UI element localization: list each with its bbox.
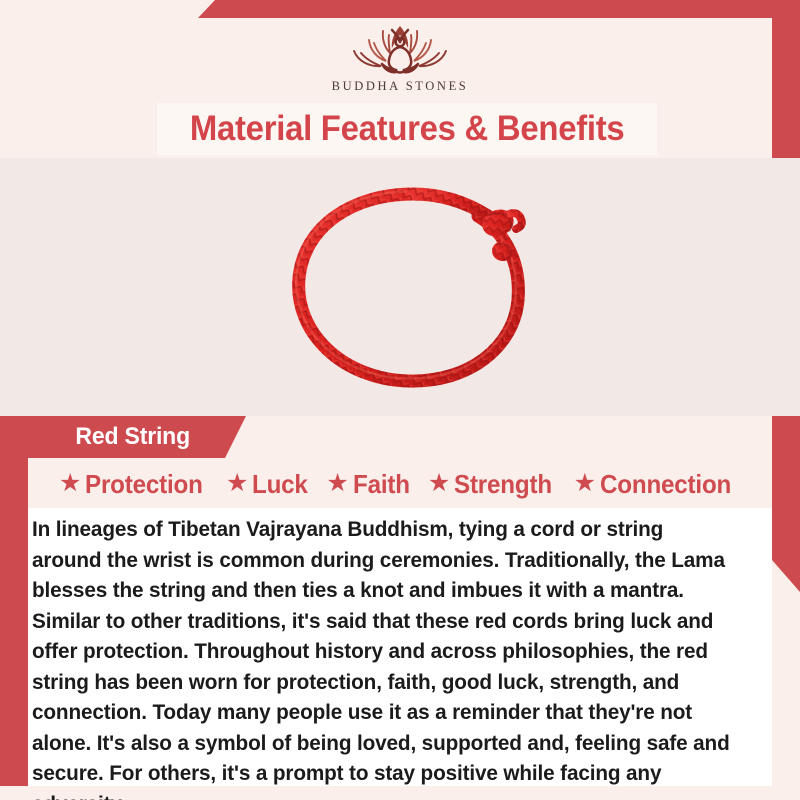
feature-item-connection: ★ Connection	[574, 469, 741, 500]
feature-label: Faith	[353, 469, 410, 500]
star-icon: ★	[428, 471, 450, 496]
product-photo	[0, 158, 800, 416]
red-string-bracelet-image	[256, 158, 566, 416]
star-icon: ★	[574, 471, 596, 496]
feature-label: Luck	[252, 469, 308, 500]
feature-label: Connection	[600, 469, 731, 500]
red-string-ribbon: Red String	[28, 416, 246, 458]
top-red-band	[0, 0, 800, 18]
lotus-meditation-icon	[334, 20, 466, 78]
star-icon: ★	[226, 471, 248, 496]
description-block: In lineages of Tibetan Vajrayana Buddhis…	[28, 508, 772, 786]
description-text: In lineages of Tibetan Vajrayana Buddhis…	[32, 514, 736, 800]
feature-item-strength: ★ Strength	[428, 469, 560, 500]
feature-item-protection: ★ Protection	[59, 469, 212, 500]
feature-item-faith: ★ Faith	[326, 469, 414, 500]
ribbon-label: Red String	[75, 423, 190, 451]
brand-logo: BUDDHA STONES	[0, 18, 800, 100]
feature-label: Strength	[454, 469, 552, 500]
page-title: Material Features & Benefits	[190, 109, 625, 149]
star-icon: ★	[326, 471, 348, 496]
brand-name: BUDDHA STONES	[332, 79, 469, 94]
title-banner: Material Features & Benefits	[157, 103, 657, 155]
feature-item-luck: ★ Luck	[226, 469, 312, 500]
feature-label: Protection	[85, 469, 203, 500]
feature-list: ★ Protection ★ Luck ★ Faith ★ Strength ★…	[28, 462, 772, 506]
infographic-page: BUDDHA STONES Material Features & Benefi…	[0, 0, 800, 800]
star-icon: ★	[59, 471, 81, 496]
